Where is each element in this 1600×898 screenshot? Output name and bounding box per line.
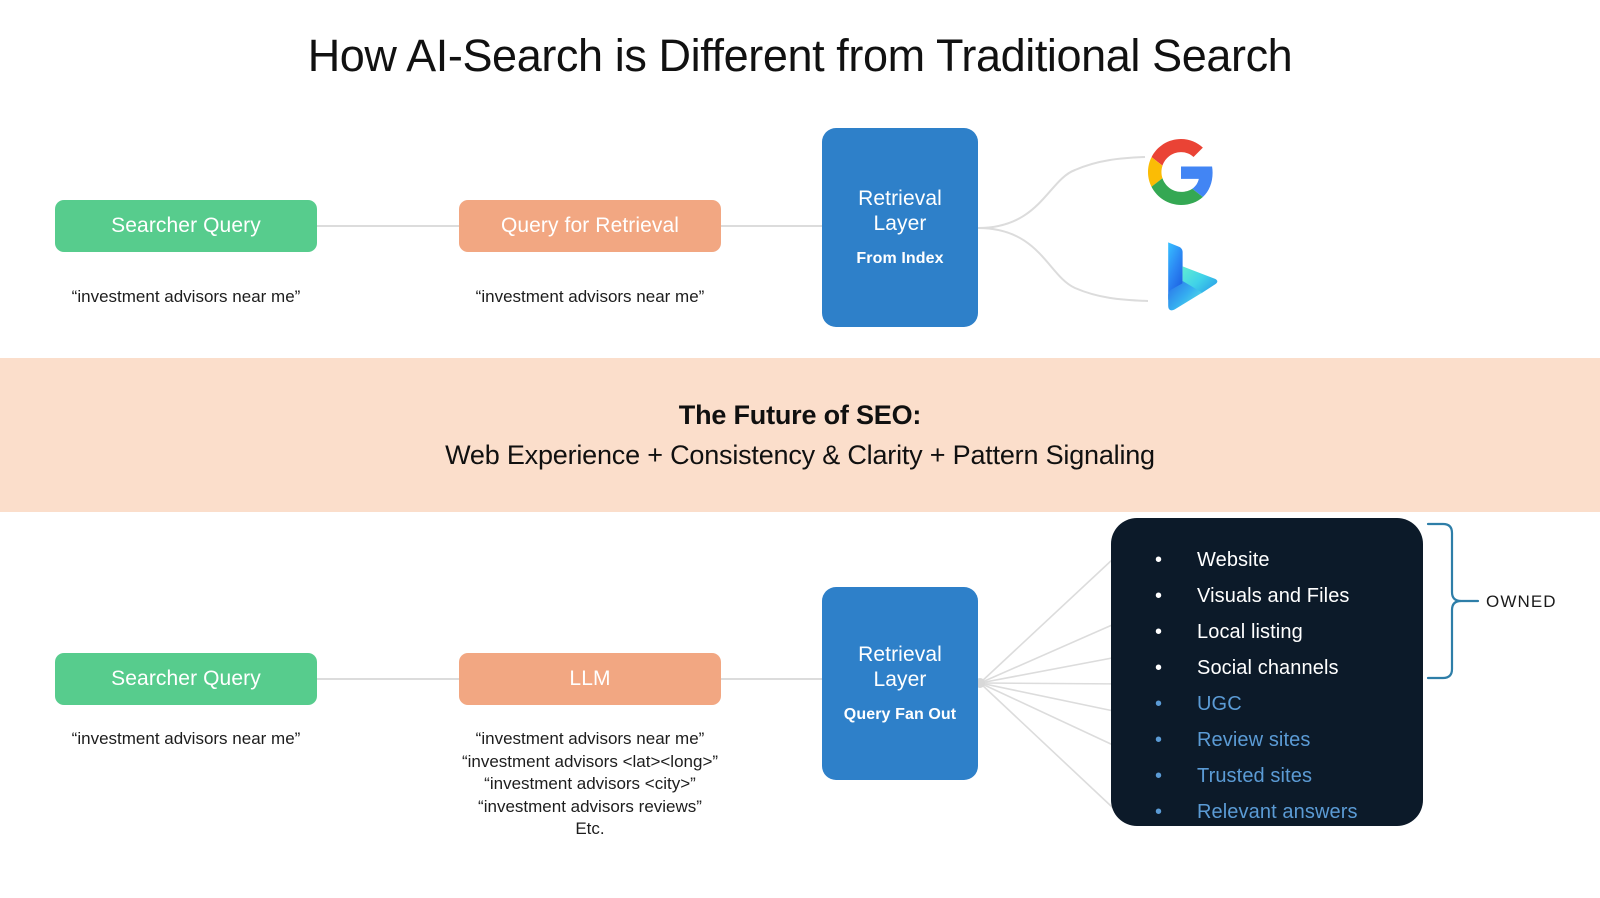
caption-query-for-retrieval: “investment advisors near me”	[452, 286, 728, 309]
node-sublabel: From Index	[856, 250, 943, 268]
google-logo	[1148, 139, 1214, 205]
source-list-item: Visuals and Files	[1153, 578, 1393, 614]
source-list-item: Relevant answers	[1153, 794, 1393, 830]
source-list-item: Social channels	[1153, 650, 1393, 686]
caption-searcher-query-traditional: “investment advisors near me”	[55, 286, 317, 309]
source-list-item: Website	[1153, 542, 1393, 578]
node-label: Query for Retrieval	[501, 214, 679, 239]
node-searcher-query-traditional[interactable]: Searcher Query	[55, 200, 317, 252]
future-of-seo-banner: The Future of SEO: Web Experience + Cons…	[0, 358, 1600, 512]
node-sublabel: Query Fan Out	[844, 706, 956, 724]
owned-bracket-label: OWNED	[1486, 592, 1557, 612]
caption-llm-fanout-queries: “investment advisors near me” “investmen…	[430, 728, 750, 841]
source-list-item: Review sites	[1153, 722, 1393, 758]
node-label: Searcher Query	[111, 214, 261, 239]
node-label: Retrieval Layer	[858, 187, 942, 237]
bing-logo	[1160, 240, 1226, 312]
caption-searcher-query-ai: “investment advisors near me”	[55, 728, 317, 751]
source-list-item: Local listing	[1153, 614, 1393, 650]
node-label: LLM	[569, 667, 610, 692]
source-list-item: Trusted sites	[1153, 758, 1393, 794]
sources-list: WebsiteVisuals and FilesLocal listingSoc…	[1153, 542, 1393, 830]
banner-title: The Future of SEO:	[679, 400, 921, 431]
fan-out-edges	[980, 545, 1128, 822]
edge-retrieval-to-google	[978, 157, 1145, 228]
banner-subtitle: Web Experience + Consistency & Clarity +…	[445, 440, 1155, 471]
source-list-item: UGC	[1153, 686, 1393, 722]
sources-panel: WebsiteVisuals and FilesLocal listingSoc…	[1111, 518, 1423, 826]
edge-retrieval-to-bing	[978, 228, 1148, 301]
node-retrieval-layer-ai[interactable]: Retrieval Layer Query Fan Out	[822, 587, 978, 780]
node-llm[interactable]: LLM	[459, 653, 721, 705]
owned-bracket	[1428, 524, 1461, 678]
node-label: Retrieval Layer	[858, 643, 942, 693]
node-query-for-retrieval[interactable]: Query for Retrieval	[459, 200, 721, 252]
node-label: Searcher Query	[111, 667, 261, 692]
diagram-canvas: How AI-Search is Different from Traditio…	[0, 0, 1600, 898]
page-title: How AI-Search is Different from Traditio…	[0, 30, 1600, 82]
node-searcher-query-ai[interactable]: Searcher Query	[55, 653, 317, 705]
node-retrieval-layer-traditional[interactable]: Retrieval Layer From Index	[822, 128, 978, 327]
